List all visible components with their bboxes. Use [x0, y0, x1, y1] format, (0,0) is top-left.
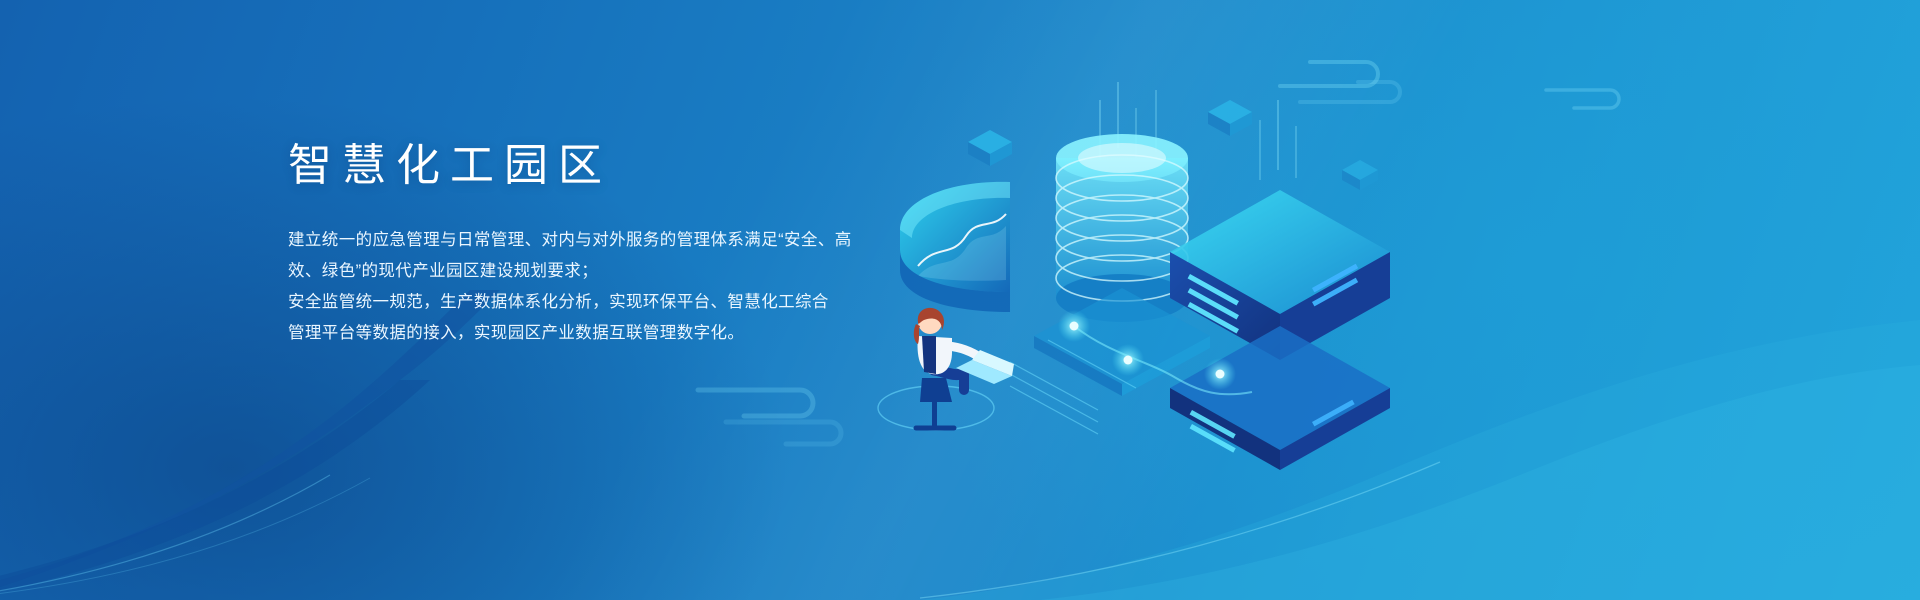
- floating-cube: [968, 130, 1012, 166]
- seated-person-with-laptop: [878, 308, 1014, 430]
- server-rack-stack: [1170, 190, 1390, 470]
- curved-chart-panel: [900, 182, 1010, 312]
- floating-cube: [1208, 100, 1252, 136]
- floating-cube: [1342, 160, 1378, 190]
- hero-banner: 智慧化工园区 建立统一的应急管理与日常管理、对内与对外服务的管理体系满足“安全、…: [0, 0, 1920, 600]
- cloud-icon: [1540, 70, 1660, 120]
- isometric-smart-park-illustration: [860, 30, 1420, 460]
